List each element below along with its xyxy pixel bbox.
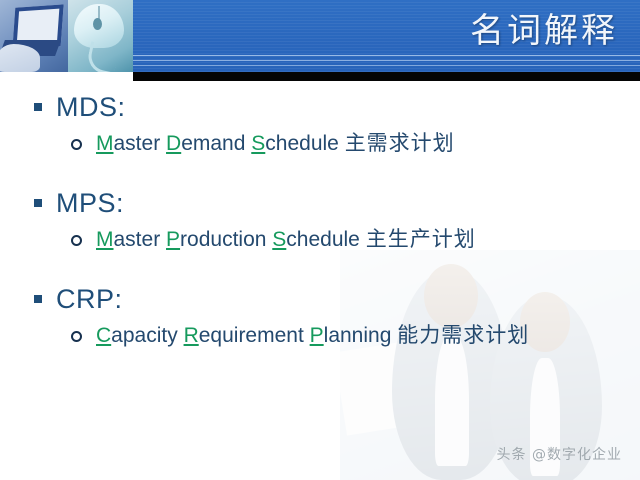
word-rest: aster <box>114 132 161 155</box>
term-definition-chinese: 主生产计划 <box>366 228 476 251</box>
word-rest: apacity <box>111 324 178 347</box>
word-capital: M <box>96 132 114 155</box>
word-rest: equirement <box>199 324 304 347</box>
slide-header: 名词解释 <box>0 0 640 82</box>
word-rest: chedule <box>286 228 360 251</box>
term-definition-row: Capacity Requirement Planning 能力需求计划 <box>0 320 640 352</box>
word-capital: P <box>166 228 180 251</box>
term-definition: Master Demand Schedule 主需求计划 <box>96 131 455 157</box>
word-rest: roduction <box>180 228 266 251</box>
word-rest: chedule <box>265 132 339 155</box>
circle-bullet-icon <box>71 331 82 342</box>
mouse-photo <box>68 0 133 72</box>
hand-icon <box>0 44 40 72</box>
word-capital: M <box>96 228 114 251</box>
word-rest: aster <box>114 228 161 251</box>
watermark: 头条 @数字化企业 <box>497 444 622 464</box>
term-definition: Master Production Schedule 主生产计划 <box>96 227 476 253</box>
term-abbreviation: MPS: <box>56 188 124 218</box>
term-heading-row: MPS: <box>0 186 640 220</box>
header-black-divider <box>133 72 640 81</box>
circle-bullet-icon <box>71 235 82 246</box>
term-definition-row: Master Production Schedule 主生产计划 <box>0 224 640 256</box>
word-capital: S <box>251 132 265 155</box>
word-rest: lanning <box>324 324 392 347</box>
word-capital: S <box>272 228 286 251</box>
word-rest: emand <box>181 132 245 155</box>
mouse-wheel-icon <box>93 18 102 30</box>
square-bullet-icon <box>34 295 42 303</box>
term-heading-row: CRP: <box>0 282 640 316</box>
term-abbreviation: CRP: <box>56 284 123 314</box>
term-group: CRP: Capacity Requirement Planning 能力需求计… <box>0 282 640 352</box>
term-definition-row: Master Demand Schedule 主需求计划 <box>0 128 640 160</box>
square-bullet-icon <box>34 199 42 207</box>
term-group: MDS: Master Demand Schedule 主需求计划 <box>0 90 640 160</box>
term-definition-chinese: 能力需求计划 <box>397 324 529 347</box>
page-title: 名词解释 <box>470 6 618 58</box>
term-group: MPS: Master Production Schedule 主生产计划 <box>0 186 640 256</box>
slide-content: MDS: Master Demand Schedule 主需求计划 MPS: M… <box>0 82 640 480</box>
slide: 名词解释 MDS: Master Demand Schedule 主需求计划 M… <box>0 0 640 480</box>
word-capital: P <box>310 324 324 347</box>
word-capital: C <box>96 324 111 347</box>
term-definition-chinese: 主需求计划 <box>345 132 455 155</box>
term-heading-row: MDS: <box>0 90 640 124</box>
term-abbreviation: MDS: <box>56 92 126 122</box>
circle-bullet-icon <box>71 139 82 150</box>
word-capital: R <box>184 324 199 347</box>
term-definition: Capacity Requirement Planning 能力需求计划 <box>96 323 529 349</box>
laptop-photo <box>0 0 68 72</box>
square-bullet-icon <box>34 103 42 111</box>
word-capital: D <box>166 132 181 155</box>
